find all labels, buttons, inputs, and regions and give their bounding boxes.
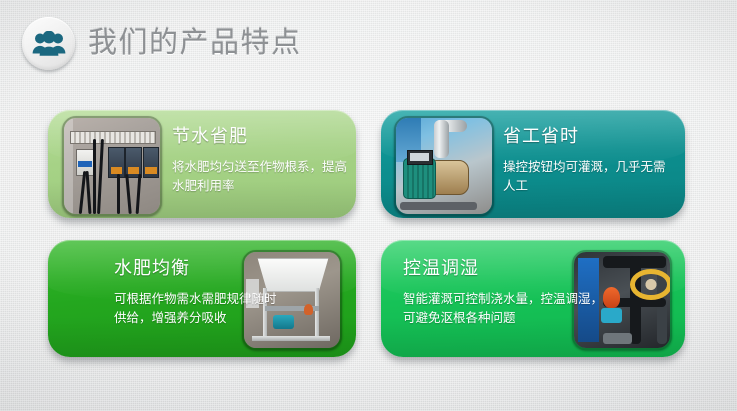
card-body: 操控按钮均可灌溉，几乎无需人工 (503, 157, 677, 196)
card-text-block: 水肥均衡 可根据作物需水需肥规律随时供给，增强养分吸收 (114, 254, 284, 328)
feature-card-temperature-humidity-control[interactable]: 控温调湿 智能灌溉可控制浇水量，控温调湿，可避免沤根各种问题 (381, 240, 685, 357)
electrical-control-cabinet-photo (62, 116, 162, 216)
feature-card-balanced-water-fertilizer[interactable]: 水肥均衡 可根据作物需水需肥规律随时供给，增强养分吸收 (48, 240, 356, 357)
slide-canvas: 我们的产品特点 节水省肥 将水肥均匀送至作物根系，提高水肥利用率 (0, 0, 737, 411)
card-title: 控温调湿 (403, 254, 603, 280)
card-title: 省工省时 (503, 122, 677, 148)
card-text-block: 省工省时 操控按钮均可灌溉，几乎无需人工 (503, 122, 677, 196)
header-badge (22, 17, 75, 70)
group-people-icon (32, 31, 66, 57)
feature-card-water-fertilizer-saving[interactable]: 节水省肥 将水肥均匀送至作物根系，提高水肥利用率 (48, 110, 356, 218)
card-body: 可根据作物需水需肥规律随时供给，增强养分吸收 (114, 289, 284, 328)
water-pump-photo (394, 116, 494, 216)
slide-header: 我们的产品特点 (0, 0, 737, 92)
page-title: 我们的产品特点 (88, 19, 302, 61)
card-title: 节水省肥 (172, 122, 348, 148)
card-body: 智能灌溉可控制浇水量，控温调湿，可避免沤根各种问题 (403, 289, 603, 328)
feature-card-labor-time-saving[interactable]: 省工省时 操控按钮均可灌溉，几乎无需人工 (381, 110, 685, 218)
card-text-block: 控温调湿 智能灌溉可控制浇水量，控温调湿，可避免沤根各种问题 (403, 254, 603, 328)
card-text-block: 节水省肥 将水肥均匀送至作物根系，提高水肥利用率 (172, 122, 348, 196)
card-body: 将水肥均匀送至作物根系，提高水肥利用率 (172, 157, 348, 196)
card-title: 水肥均衡 (114, 254, 284, 280)
